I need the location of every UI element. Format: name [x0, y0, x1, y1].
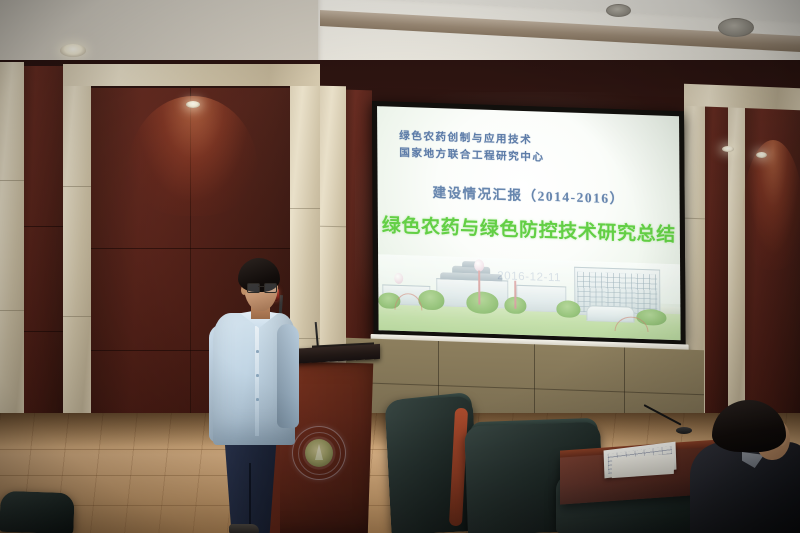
slide-organization: 绿色农药创制与应用技术 国家地方联合工程研究中心	[399, 128, 544, 167]
glasses-lens-right	[264, 283, 277, 293]
presentation-slide: 绿色农药创制与应用技术 国家地方联合工程研究中心 建设情况汇报（2014-201…	[377, 106, 681, 340]
presenter-shirt-button	[256, 350, 259, 353]
presenter	[185, 258, 305, 533]
slide-title: 绿色农药与绿色防控技术研究总结	[378, 210, 680, 247]
wall-wood-panel-right	[745, 108, 800, 430]
wall-downlight-right-a	[722, 146, 734, 152]
glasses-icon	[247, 283, 276, 292]
stone-pilaster-left-inner	[63, 64, 91, 449]
presenter-right-arm	[277, 324, 299, 428]
slide-subtitle: 建设情况汇报（2014-2016）	[378, 179, 680, 209]
photo-flagpole-2	[514, 281, 516, 309]
wall-downlight-panel	[186, 101, 200, 108]
screen-surface: 绿色农药创制与应用技术 国家地方联合工程研究中心 建设情况汇报（2014-201…	[377, 106, 681, 340]
photo-flagpole-1	[478, 271, 480, 305]
ceiling-downlight-left	[60, 44, 86, 57]
conference-room-photo: 绿色农药创制与应用技术 国家地方联合工程研究中心 建设情况汇报（2014-201…	[0, 0, 800, 533]
photo-tree-4	[556, 300, 580, 318]
slide-campus-photo	[378, 254, 681, 340]
presenter-shirt-button	[256, 398, 259, 401]
photo-tree-2	[466, 291, 498, 314]
ceiling-speaker-far	[606, 4, 631, 17]
wall-downlight-right-b	[756, 152, 767, 158]
presenter-shirt-button	[256, 374, 259, 377]
seated-attendee	[690, 400, 800, 533]
presenter-shirt-placket	[255, 326, 259, 436]
emblem-center-motif	[305, 439, 333, 467]
presenter-shoe	[229, 524, 259, 533]
projection-screen[interactable]: 绿色农药创制与应用技术 国家地方联合工程研究中心 建设情况汇报（2014-201…	[372, 101, 686, 345]
glasses-lens-left	[247, 283, 260, 293]
ceiling-speaker-right	[718, 18, 754, 37]
photo-balloon-2	[394, 273, 403, 284]
stone-header-left	[63, 64, 320, 86]
presenter-leg-seam	[249, 463, 251, 533]
leather-chair-far-left[interactable]	[0, 491, 75, 533]
attendee-hair	[712, 400, 786, 452]
stone-header-right	[684, 84, 800, 110]
wall-wood-strip-far-left	[22, 66, 65, 441]
slide-org-line-2: 国家地方联合工程研究中心	[399, 145, 544, 167]
stone-pilaster-far-left	[0, 62, 24, 452]
